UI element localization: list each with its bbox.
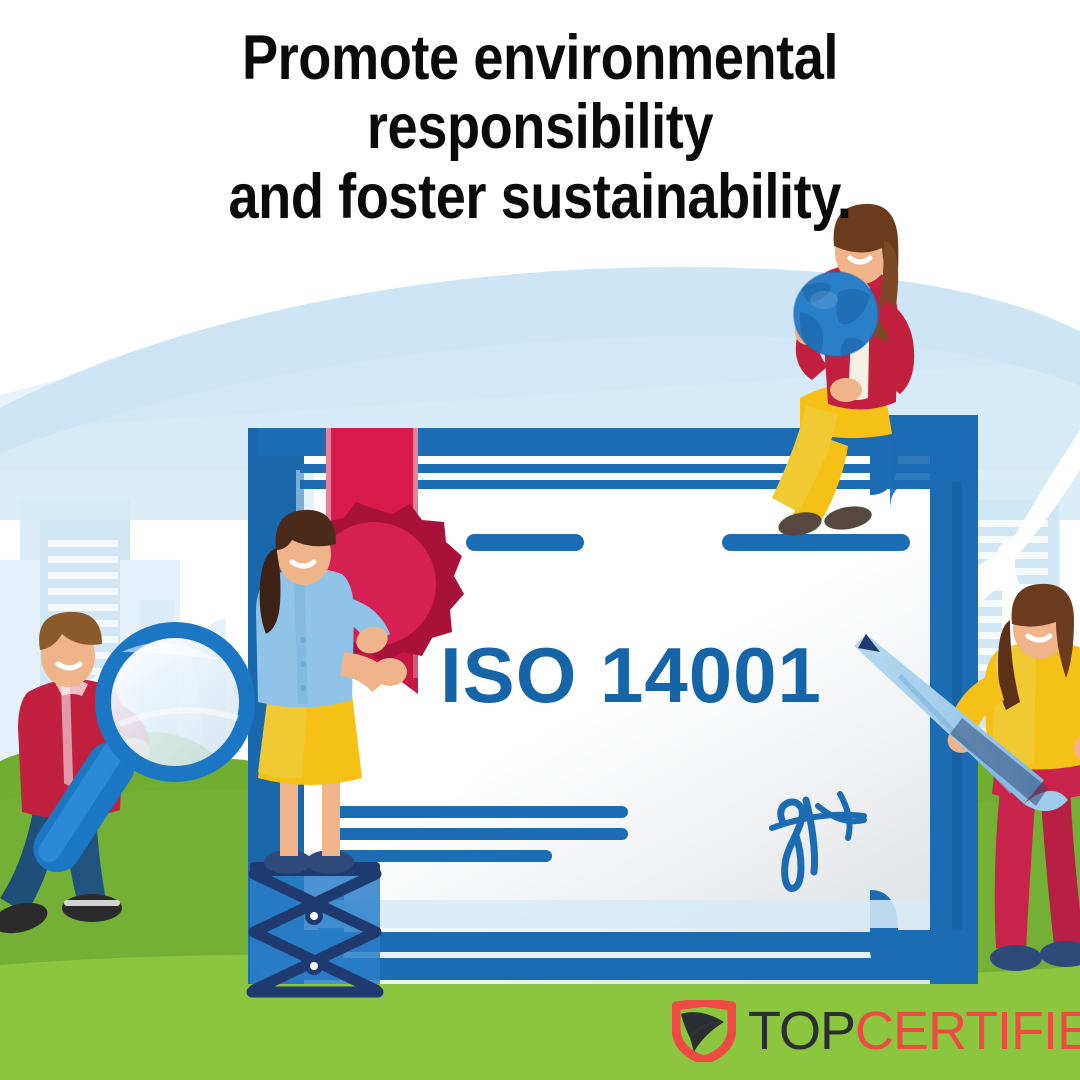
topcertifier-logo[interactable]: TOPCERTIFIER	[672, 1000, 1080, 1062]
certificate-text-line-3	[330, 850, 552, 862]
logo-word-top: TOP	[748, 1001, 855, 1061]
logo-word-certifier: CERTIFIER	[855, 1001, 1080, 1061]
illustration-canvas	[0, 0, 1080, 1080]
certificate-text-line-2	[330, 828, 628, 840]
logo-wordmark: TOPCERTIFIER	[748, 1004, 1080, 1058]
certificate-text-line-1	[330, 806, 628, 818]
shield-check-icon	[672, 1000, 736, 1062]
scissor-lift	[250, 862, 380, 992]
certificate-title-bar-right	[722, 534, 910, 551]
certificate-title-bar-left	[466, 534, 584, 551]
iso-standard-label: ISO 14001	[440, 630, 822, 721]
promotional-graphic: Promote environmental responsibility and…	[0, 0, 1080, 1080]
